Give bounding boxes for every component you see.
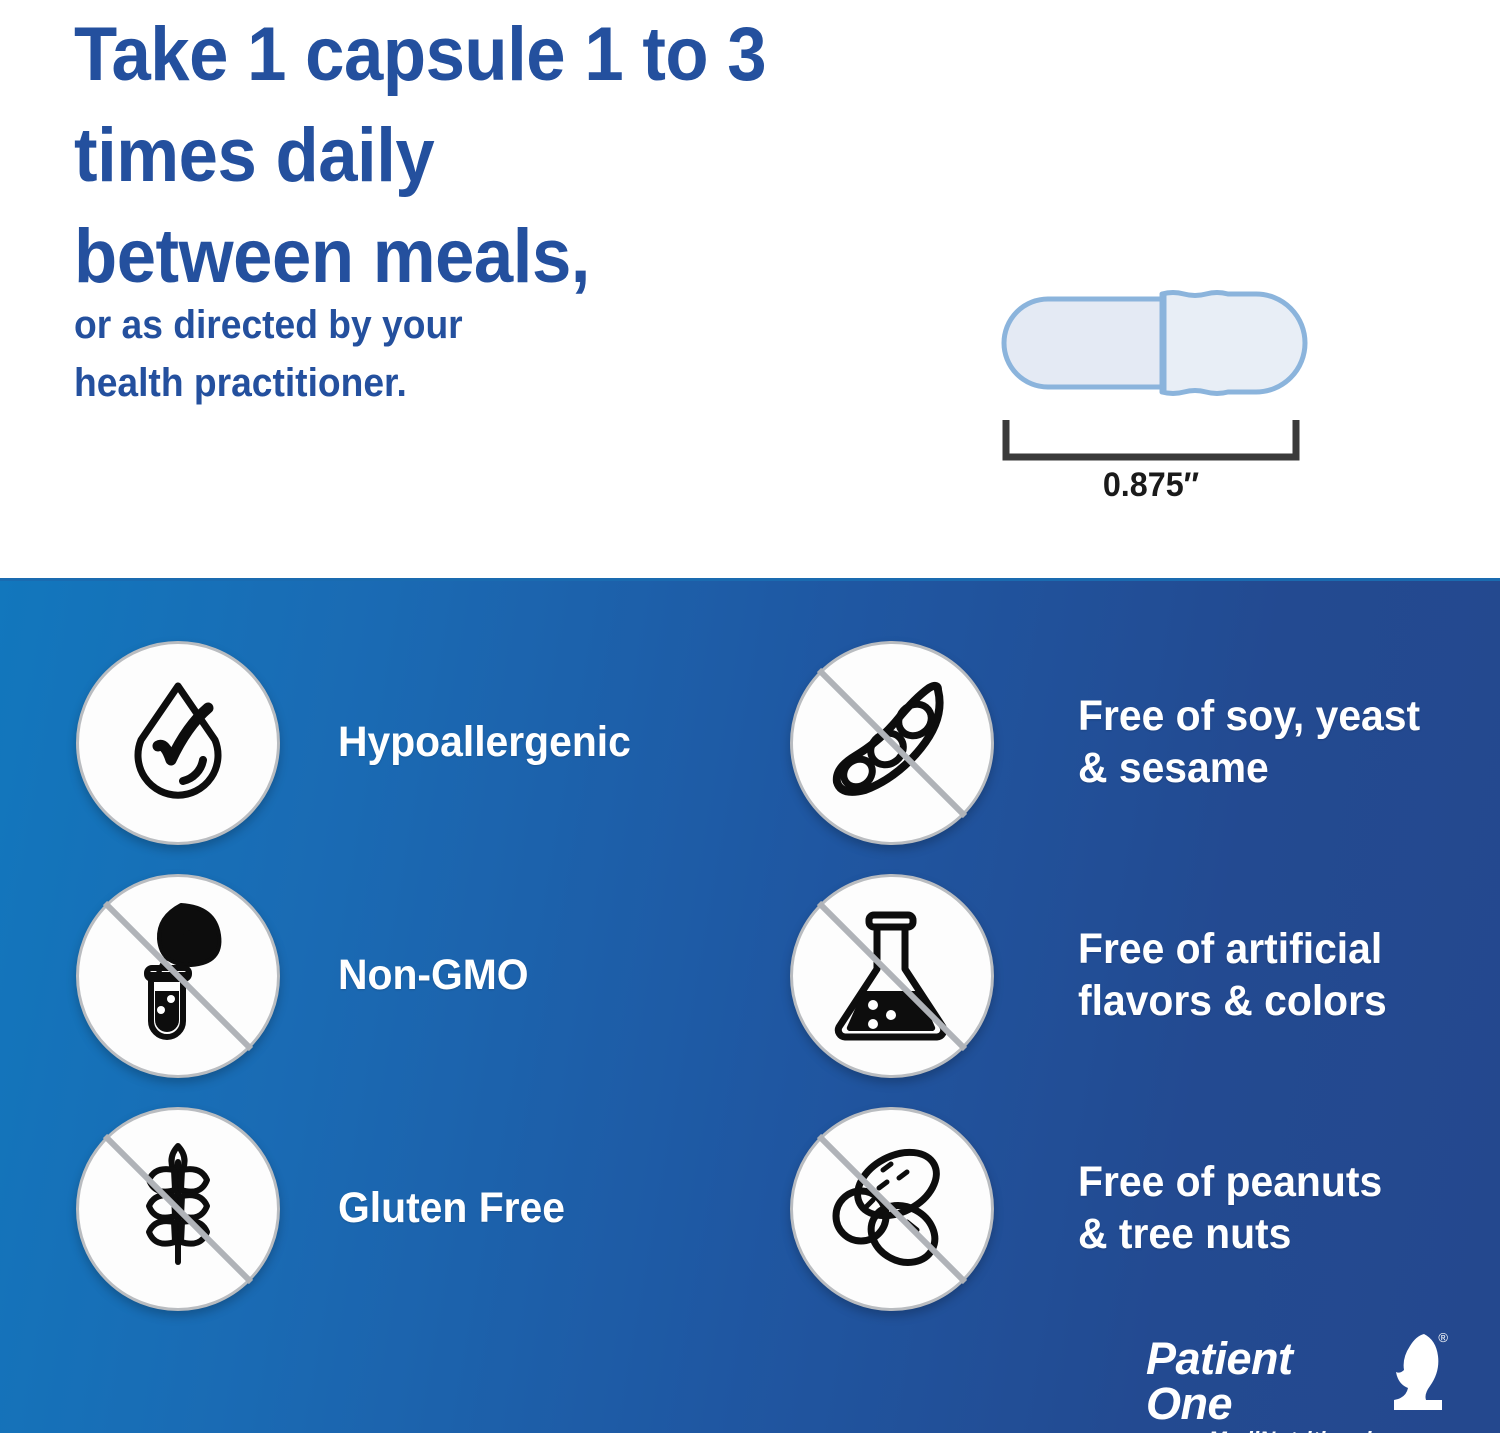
peanuts-icon [793,1110,991,1308]
badge-icon-circle [790,1107,994,1311]
badge-free-of-peanuts: Free of peanuts & tree nuts [790,1107,1398,1311]
badge-label: Gluten Free [338,1183,565,1235]
badge-icon-circle [790,874,994,1078]
brand-name: Patient One [1146,1336,1384,1426]
brand-logo-text: Patient One MediNutritionals [1146,1336,1384,1451]
badge-label: Non-GMO [338,950,529,1002]
badge-gluten-free: Gluten Free [76,1107,577,1311]
badge-label: Free of artificial flavors & colors [1078,924,1387,1027]
badge-grid: Hypoallergenic Non-GMO [0,0,1500,855]
badge-icon-circle [790,641,994,845]
badge-label: Free of soy, yeast & sesame [1078,691,1420,794]
badge-free-of-artificial: Free of artificial flavors & colors [790,874,1403,1078]
badge-label: Free of peanuts & tree nuts [1078,1157,1382,1260]
brand-logo[interactable]: Patient One MediNutritionals ® [1146,1330,1446,1416]
badge-label: Hypoallergenic [338,717,631,769]
badge-icon-circle [76,641,280,845]
water-drop-check-icon [103,668,253,818]
registered-trademark: ® [1438,1330,1448,1345]
badge-free-of-soy: Free of soy, yeast & sesame [790,641,1438,845]
badge-hypoallergenic: Hypoallergenic [76,641,646,845]
patient-one-face-logo [1378,1330,1446,1417]
soybean-pod-icon [793,644,991,842]
badge-icon-circle [76,1107,280,1311]
badge-non-gmo: Non-GMO [76,874,539,1078]
brand-tagline: MediNutritionals [1146,1429,1384,1451]
wheat-stalk-icon [79,1110,277,1308]
test-tube-leaf-icon [79,877,277,1075]
erlenmeyer-flask-icon [793,877,991,1075]
badge-icon-circle [76,874,280,1078]
